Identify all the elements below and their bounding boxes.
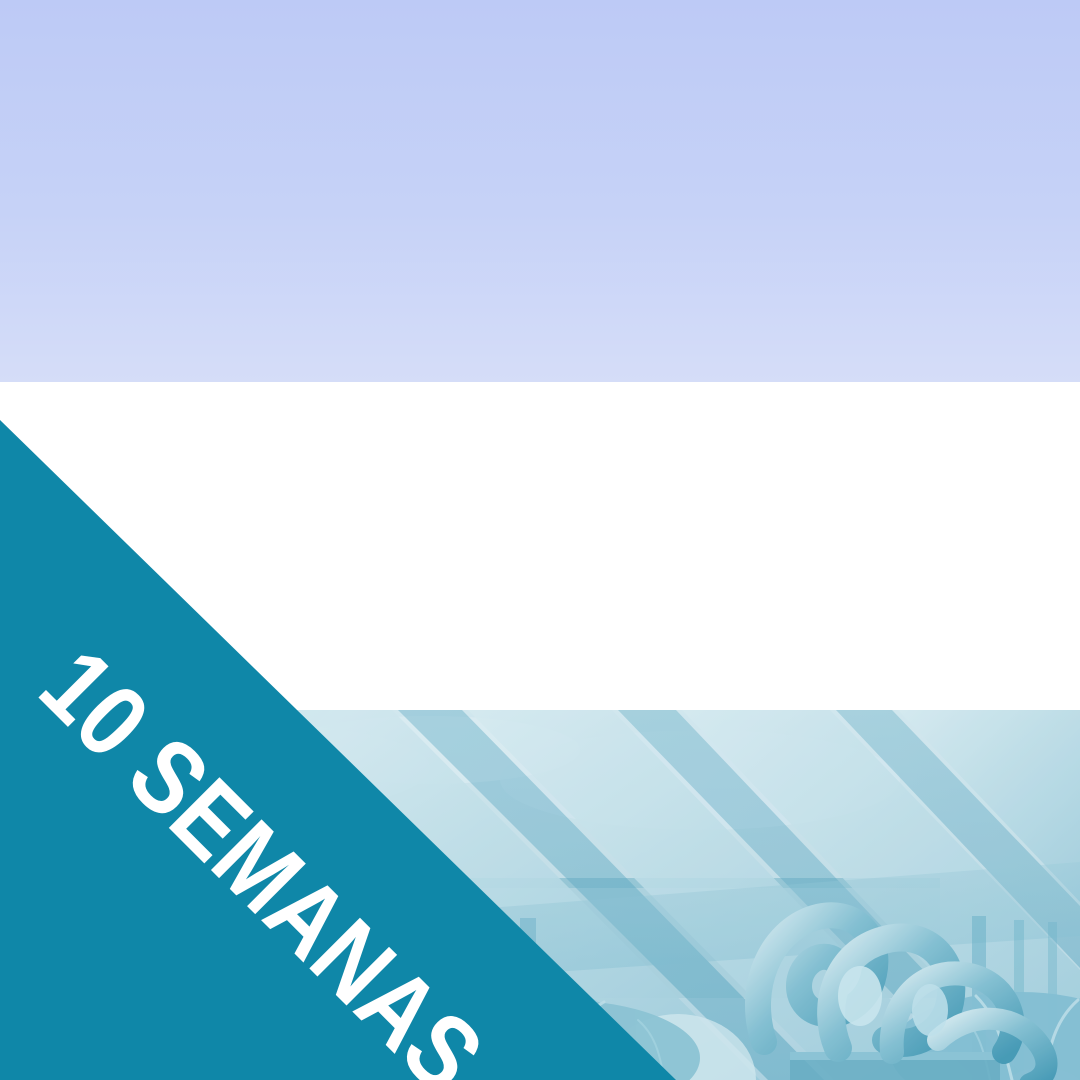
promo-card: CAMPITI BRAGA CACD 2026 AULAS PARTICULAR… bbox=[0, 0, 1080, 1080]
ribbon-duration-text: 10 SEMANAS bbox=[22, 632, 500, 1080]
ribbon-text-layer: 10 SEMANAS bbox=[0, 0, 1080, 1080]
ribbon-duration-label: 10 SEMANAS bbox=[22, 632, 565, 1080]
